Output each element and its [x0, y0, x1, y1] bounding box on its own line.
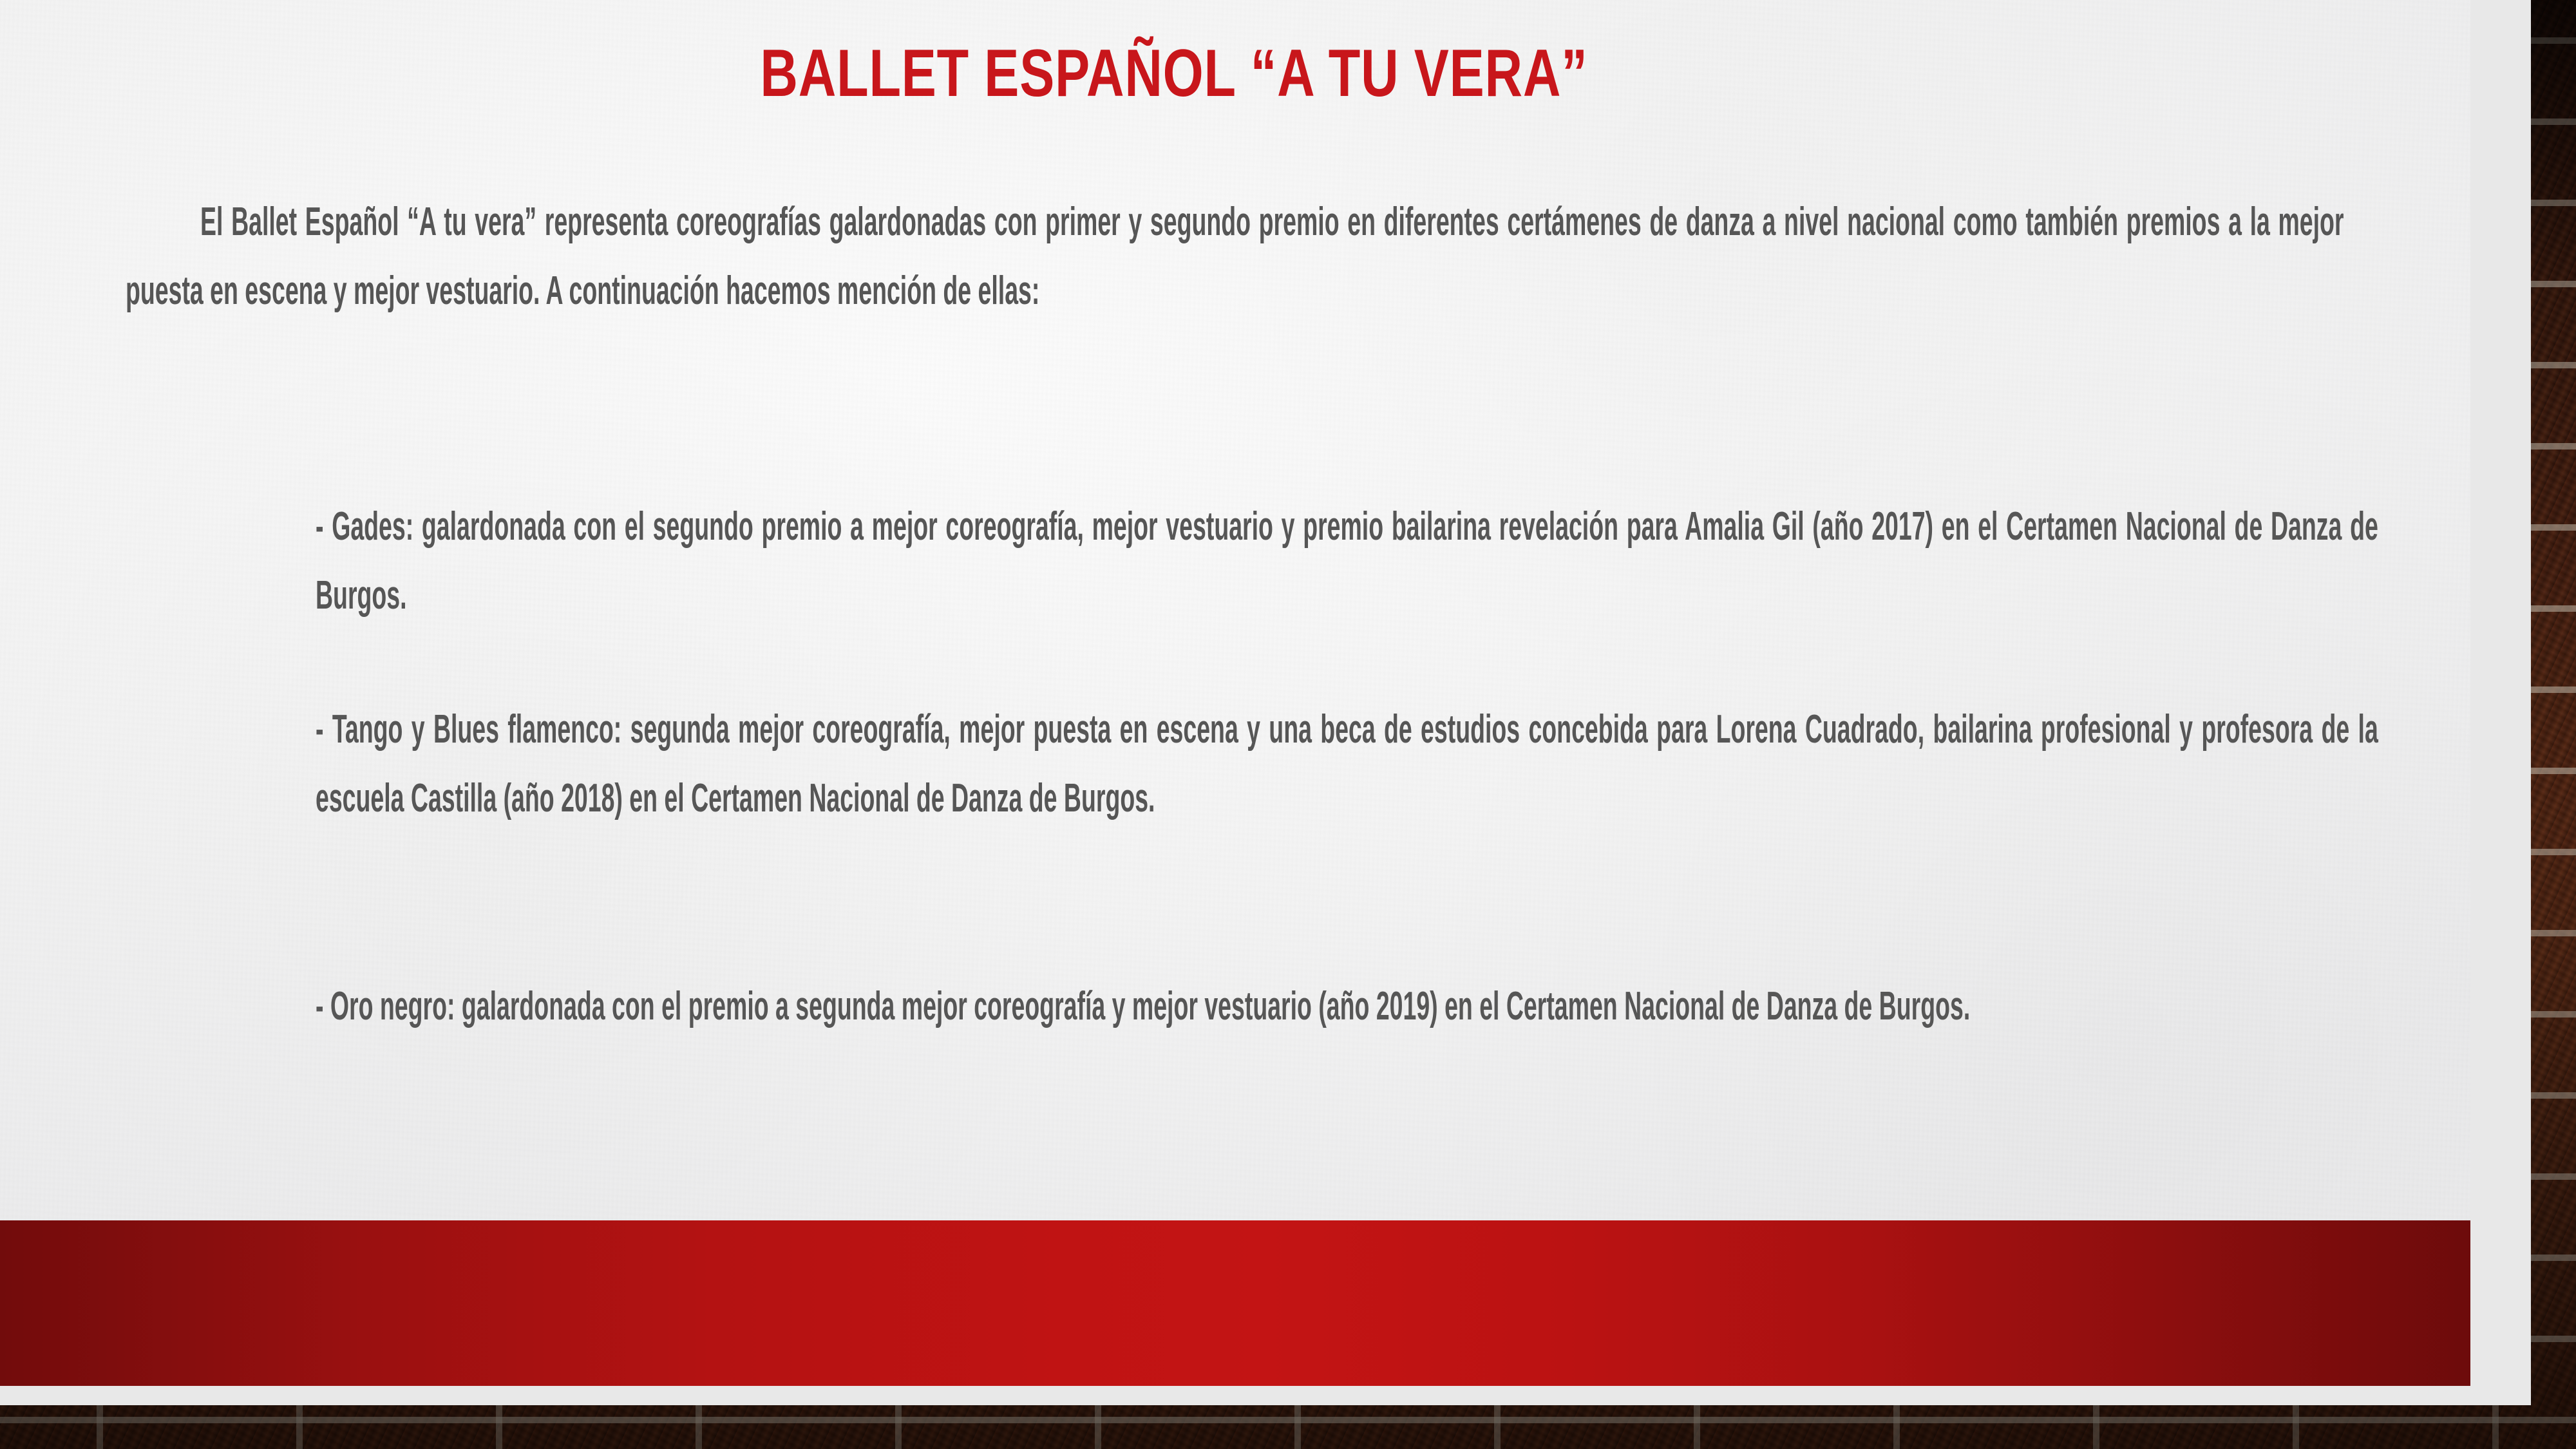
list-item-oro-negro: - Oro negro: galardonada con el premio a… — [316, 972, 2378, 1041]
list-item-tango-y-blues-flamenco: - Tango y Blues flamenco: segunda mejor … — [316, 696, 2378, 833]
list-item-gades: - Gades: galardonada con el segundo prem… — [316, 493, 2378, 630]
page-title: BALLET ESPAÑOL “A TU VERA” — [228, 40, 2119, 107]
footer-red-bar — [0, 1220, 2470, 1386]
slide-content: BALLET ESPAÑOL “A TU VERA” El Ballet Esp… — [0, 0, 2470, 1179]
slide-card: BALLET ESPAÑOL “A TU VERA” El Ballet Esp… — [0, 0, 2470, 1347]
intro-paragraph: El Ballet Español “A tu vera” representa… — [126, 188, 2344, 325]
